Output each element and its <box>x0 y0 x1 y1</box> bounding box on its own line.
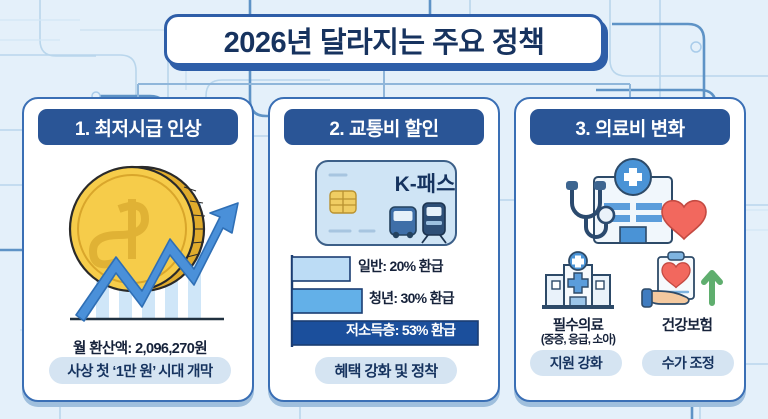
panel-1-body: 월 환산액: 2,096,270원 사상 첫 ‘1만 원’ 시대 개막 <box>24 151 256 401</box>
page-title: 2026년 달라지는 주요 정책 <box>164 14 604 70</box>
kpass-card: K-패스 <box>270 155 502 251</box>
title-text: 2026년 달라지는 주요 정책 <box>224 19 545 61</box>
infographic-canvas: 2026년 달라지는 주요 정책 1. 최저시급 인상 <box>0 0 768 419</box>
panel-3-body: 필수의료 (중증, 응급, 소아) 건강보험 지원 강화 수가 조정 <box>516 151 748 401</box>
panel-3-item-1-subtitle: (중증, 응급, 소아) <box>519 331 637 347</box>
panel-transport-discount: 2. 교통비 할인 <box>268 97 500 402</box>
panel-minimum-wage: 1. 최저시급 인상 <box>22 97 254 402</box>
hospital-building-icon <box>538 251 618 313</box>
bar-label-low-income: 저소득층: 53% 환급 <box>346 320 455 340</box>
bar-general <box>292 257 350 281</box>
medical-hero-graphic <box>516 151 748 253</box>
kpass-card-label: K-패스 <box>395 173 456 196</box>
panel-2-pill: 혜택 강화 및 정착 <box>315 357 457 384</box>
panel-2-header: 2. 교통비 할인 <box>284 109 484 145</box>
card-chip-icon <box>330 191 356 213</box>
panel-1-pill: 사상 첫 ‘1만 원’ 시대 개막 <box>49 357 231 384</box>
hand-holding-clipboard-icon <box>640 251 730 313</box>
panel-3-item-2-pill: 수가 조정 <box>642 350 734 376</box>
panel-1-note: 월 환산액: 2,096,270원 <box>24 337 256 358</box>
panel-medical-cost: 3. 의료비 변화 <box>514 97 746 402</box>
bus-icon <box>390 207 416 238</box>
bar-label-youth: 청년: 30% 환급 <box>369 288 454 308</box>
panel-1-header: 1. 최저시급 인상 <box>38 109 238 145</box>
title-box: 2026년 달라지는 주요 정책 <box>164 14 604 66</box>
minimum-wage-graphic <box>24 151 256 351</box>
bar-label-general: 일반: 20% 환급 <box>358 256 443 276</box>
panel-2-body: K-패스 일반: 20% 환급 청년: 30% 환급 저소득층: 53% 환급 … <box>270 151 502 401</box>
panel-3-header: 3. 의료비 변화 <box>530 109 730 145</box>
panel-3-header-text: 3. 의료비 변화 <box>575 114 684 141</box>
bar-youth <box>292 289 362 313</box>
panel-3-item-1-pill: 지원 강화 <box>530 350 622 376</box>
panel-2-header-text: 2. 교통비 할인 <box>329 114 438 141</box>
panel-1-header-text: 1. 최저시급 인상 <box>75 114 201 141</box>
panel-3-item-2-title: 건강보험 <box>632 314 742 335</box>
